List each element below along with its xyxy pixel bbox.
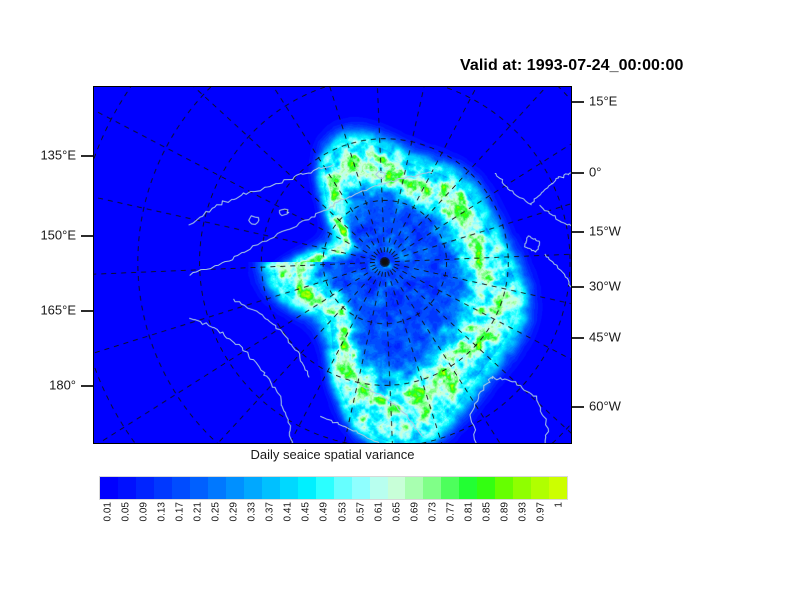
colorbar-segment-10	[280, 477, 298, 499]
figure-canvas: Valid at: 1993-07-24_00:00:00 135°E150°E…	[0, 0, 792, 612]
axis-label-right-4: 45°W	[589, 330, 621, 345]
colorbar-segment-1	[118, 477, 136, 499]
axis-label-right-1: 0°	[589, 165, 601, 180]
colorbar-segment-19	[441, 477, 459, 499]
colorbar-tick-label-7: 0.29	[229, 502, 240, 521]
colorbar-tick-label-9: 0.37	[265, 502, 276, 521]
colorbar-segment-21	[477, 477, 495, 499]
axis-label-right-5: 60°W	[589, 399, 621, 414]
colorbar-tick-label-5: 0.21	[193, 502, 204, 521]
axis-tick-right-4	[572, 337, 584, 339]
map-plot-area[interactable]	[93, 86, 572, 444]
colorbar-tick-label-3: 0.13	[157, 502, 168, 521]
colorbar-segment-3	[154, 477, 172, 499]
colorbar-tick-labels: 0.010.050.090.130.170.210.250.290.330.37…	[99, 502, 568, 562]
axis-tick-left-3	[81, 385, 93, 387]
colorbar-tick-label-21: 0.85	[481, 502, 492, 521]
colorbar-tick-label-10: 0.41	[283, 502, 294, 521]
colorbar-segment-20	[459, 477, 477, 499]
axis-tick-right-2	[572, 231, 584, 233]
colorbar-gradient	[99, 476, 568, 500]
colorbar-tick-label-20: 0.81	[463, 502, 474, 521]
axis-label-right-3: 30°W	[589, 279, 621, 294]
colorbar-segment-14	[352, 477, 370, 499]
axis-label-left-0: 135°E	[0, 148, 76, 163]
colorbar-segment-0	[100, 477, 118, 499]
axis-label-left-1: 150°E	[0, 228, 76, 243]
colorbar-segment-7	[226, 477, 244, 499]
colorbar-tick-label-4: 0.17	[175, 502, 186, 521]
colorbar-tick-label-8: 0.33	[247, 502, 258, 521]
colorbar-tick-label-16: 0.65	[391, 502, 402, 521]
axis-tick-right-0	[572, 101, 584, 103]
colorbar-tick-label-11: 0.45	[301, 502, 312, 521]
axis-tick-left-0	[81, 155, 93, 157]
colorbar-segment-13	[334, 477, 352, 499]
colorbar-segment-16	[388, 477, 406, 499]
axis-tick-right-1	[572, 172, 584, 174]
colorbar-tick-label-18: 0.73	[427, 502, 438, 521]
colorbar-tick-label-22: 0.89	[499, 502, 510, 521]
colorbar-tick-label-15: 0.61	[373, 502, 384, 521]
axis-label-left-2: 165°E	[0, 303, 76, 318]
colorbar-tick-label-14: 0.57	[355, 502, 366, 521]
colorbar-tick-label-2: 0.09	[139, 502, 150, 521]
colorbar-segment-5	[190, 477, 208, 499]
page-title: Valid at: 1993-07-24_00:00:00	[460, 57, 684, 75]
axis-label-left-3: 180°	[0, 378, 76, 393]
colorbar-segment-18	[423, 477, 441, 499]
axis-label-right-2: 15°W	[589, 224, 621, 239]
colorbar-tick-label-24: 0.97	[535, 502, 546, 521]
colorbar-segment-4	[172, 477, 190, 499]
colorbar-segment-11	[298, 477, 316, 499]
colorbar-segment-25	[549, 477, 567, 499]
axis-tick-left-1	[81, 235, 93, 237]
colorbar-tick-label-0: 0.01	[103, 502, 114, 521]
colorbar-tick-label-6: 0.25	[211, 502, 222, 521]
axis-tick-left-2	[81, 310, 93, 312]
colorbar-segment-9	[262, 477, 280, 499]
colorbar-tick-label-13: 0.53	[337, 502, 348, 521]
axis-tick-right-3	[572, 286, 584, 288]
colorbar[interactable]	[99, 476, 568, 500]
axis-tick-right-5	[572, 406, 584, 408]
colorbar-tick-label-25: 1	[553, 502, 564, 508]
seaice-variance-raster	[94, 87, 571, 443]
colorbar-tick-label-17: 0.69	[409, 502, 420, 521]
colorbar-segment-22	[495, 477, 513, 499]
colorbar-tick-label-19: 0.77	[445, 502, 456, 521]
colorbar-segment-2	[136, 477, 154, 499]
colorbar-segment-8	[244, 477, 262, 499]
axis-label-right-0: 15°E	[589, 94, 617, 109]
colorbar-segment-24	[531, 477, 549, 499]
colorbar-tick-label-23: 0.93	[517, 502, 528, 521]
colorbar-segment-23	[513, 477, 531, 499]
colorbar-tick-label-1: 0.05	[121, 502, 132, 521]
colorbar-segment-6	[208, 477, 226, 499]
colorbar-tick-label-12: 0.49	[319, 502, 330, 521]
colorbar-segment-15	[370, 477, 388, 499]
colorbar-caption: Daily seaice spatial variance	[93, 447, 572, 462]
colorbar-segment-17	[405, 477, 423, 499]
colorbar-segment-12	[316, 477, 334, 499]
